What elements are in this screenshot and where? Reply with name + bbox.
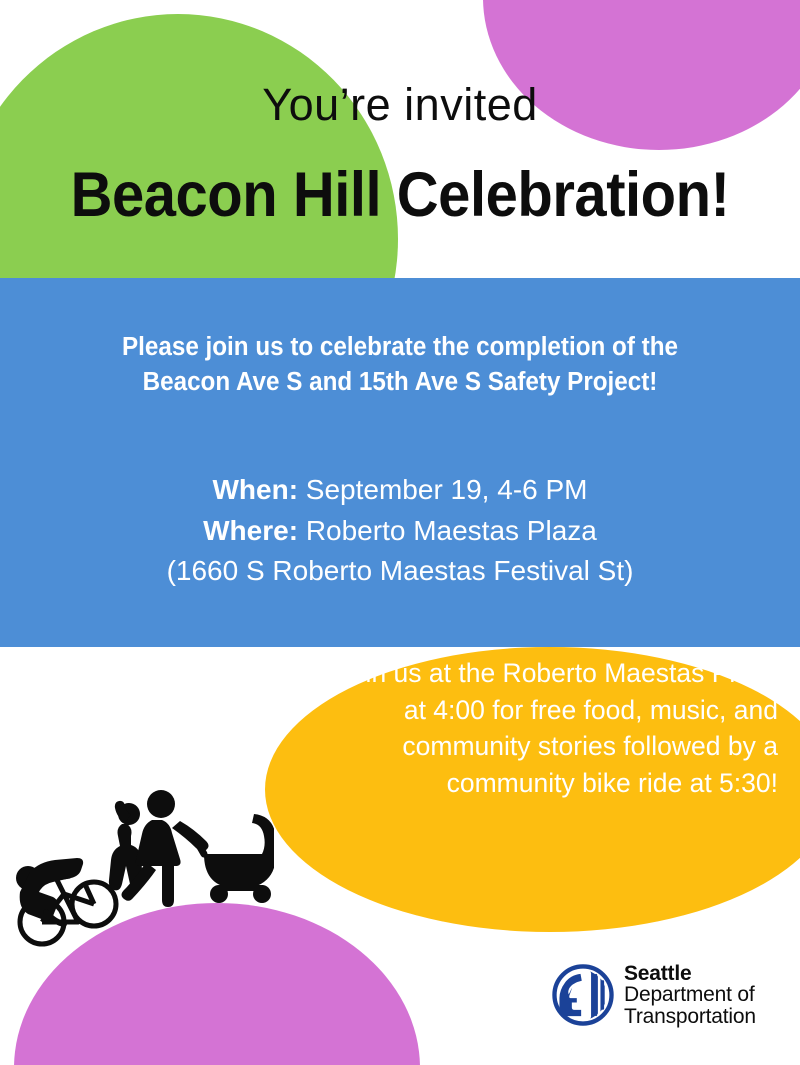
subhead-line-1: Please join us to celebrate the completi… — [122, 333, 678, 361]
baby-stroller-silhouette — [196, 814, 274, 903]
where-address: (1660 S Roberto Maestas Festival St) — [40, 551, 760, 592]
where-label: Where: — [203, 515, 298, 546]
subhead-line-2: Beacon Ave S and 15th Ave S Safety Proje… — [143, 368, 658, 396]
sdot-logo: Seattle Department of Transportation — [552, 957, 784, 1033]
event-where-row: Where: Roberto Maestas Plaza — [40, 511, 760, 552]
kicker-text: You’re invited — [0, 82, 800, 127]
sdot-wordmark: Seattle Department of Transportation — [624, 963, 756, 1027]
logo-line-1: Seattle — [624, 963, 756, 984]
event-when-row: When: September 19, 4-6 PM — [40, 470, 760, 511]
seattle-city-seal-icon — [552, 964, 614, 1026]
when-value: September 19, 4-6 PM — [306, 474, 588, 505]
event-details: When: September 19, 4-6 PM Where: Robert… — [40, 470, 760, 592]
cyclist-silhouette — [16, 858, 116, 944]
people-silhouette-artwork — [6, 782, 274, 960]
woman-carrying-child-silhouette — [109, 790, 209, 907]
description-text: Join us at the Roberto Maestas Plaza at … — [316, 655, 778, 801]
page-title: Beacon Hill Celebration! — [32, 162, 768, 228]
logo-line-2: Department of — [624, 984, 756, 1005]
subhead-text: Please join us to celebrate the completi… — [52, 330, 747, 399]
where-value: Roberto Maestas Plaza — [306, 515, 597, 546]
logo-line-3: Transportation — [624, 1006, 756, 1027]
poster-canvas: You’re invited Beacon Hill Celebration! … — [0, 0, 800, 1065]
when-label: When: — [212, 474, 298, 505]
